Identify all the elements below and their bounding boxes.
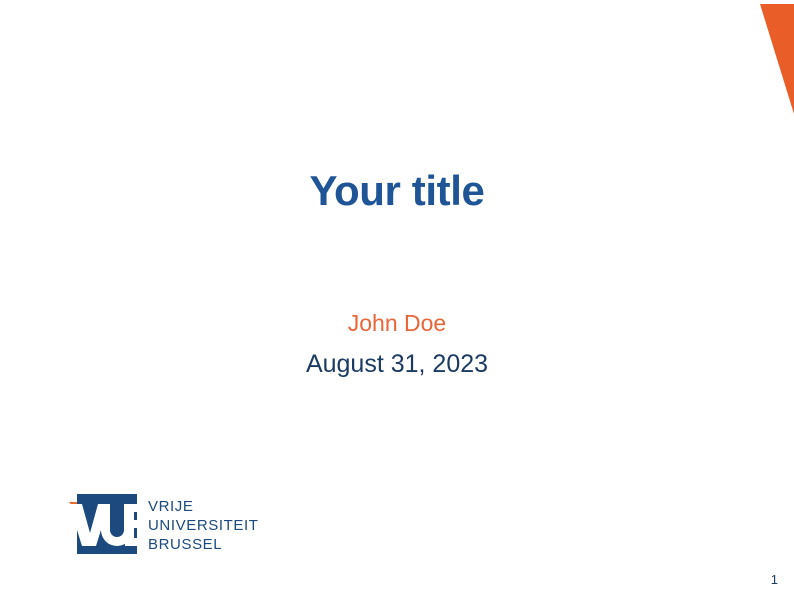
slide-meta-block: John Doe August 31, 2023 — [0, 310, 794, 379]
slide-date: August 31, 2023 — [0, 350, 794, 379]
presentation-slide: Your title John Doe August 31, 2023 VRIJ… — [0, 0, 794, 596]
vub-logo: VRIJE UNIVERSITEIT BRUSSEL — [64, 490, 264, 560]
logo-line-brussel: BRUSSEL — [148, 536, 222, 553]
title-block: Your title — [0, 168, 794, 214]
logo-line-universiteit: UNIVERSITEIT — [148, 517, 259, 534]
logo-line-vrije: VRIJE — [148, 498, 194, 515]
page-title: Your title — [0, 168, 794, 214]
page-number: 1 — [771, 573, 778, 586]
orange-corner-triangle — [760, 0, 794, 115]
author-name: John Doe — [0, 310, 794, 336]
